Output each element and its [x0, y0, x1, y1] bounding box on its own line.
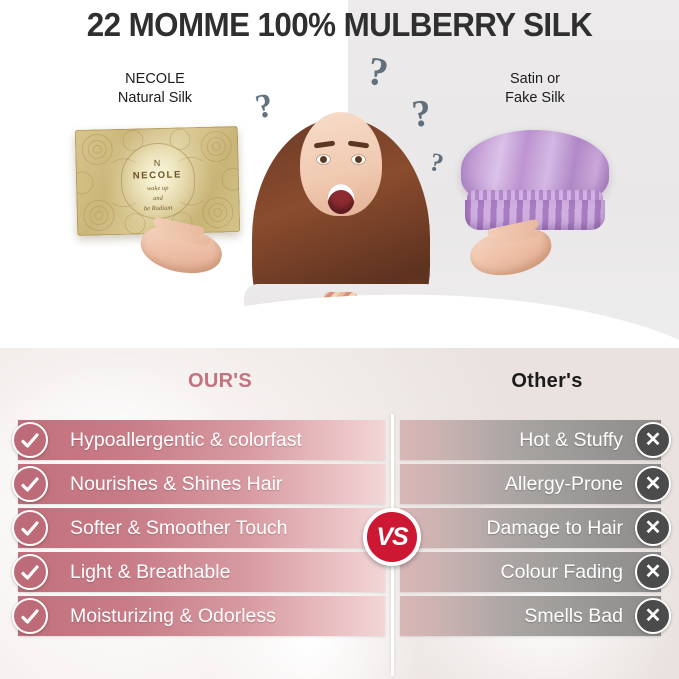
- column-header-others: Other's: [452, 370, 642, 393]
- comparison-row: Hypoallergentic & colorfastHot & Stuffy✕: [0, 420, 679, 460]
- x-badge: ✕: [635, 598, 671, 634]
- ours-feature-label: Moisturizing & Odorless: [70, 596, 276, 636]
- product-label-left-line2: Natural Silk: [70, 89, 240, 108]
- check-badge: [12, 510, 48, 546]
- column-header-ours: OUR'S: [120, 370, 320, 393]
- product-label-right: Satin or Fake Silk: [455, 70, 615, 107]
- ours-feature-label: Nourishes & Shines Hair: [70, 464, 282, 504]
- others-feature-label: Colour Fading: [501, 552, 623, 592]
- check-badge: [12, 554, 48, 590]
- model-mouth: [328, 184, 355, 214]
- check-icon: [20, 563, 40, 583]
- comparison-row: Softer & Smoother TouchDamage to Hair✕: [0, 508, 679, 548]
- others-feature-label: Hot & Stuffy: [519, 420, 623, 460]
- comparison-row: Moisturizing & OdorlessSmells Bad✕: [0, 596, 679, 636]
- product-label-left: NECOLE Natural Silk: [70, 70, 240, 107]
- check-icon: [20, 519, 40, 539]
- check-badge: [12, 466, 48, 502]
- ours-feature-label: Hypoallergentic & colorfast: [70, 420, 302, 460]
- model-face: [300, 112, 382, 216]
- check-icon: [20, 431, 40, 451]
- comparison-row: Nourishes & Shines HairAllergy-Prone✕: [0, 464, 679, 504]
- vs-badge: VS: [363, 508, 421, 566]
- ours-feature-label: Softer & Smoother Touch: [70, 508, 288, 548]
- comparison-section: OUR'S Other's Hypoallergentic & colorfas…: [0, 348, 679, 679]
- x-badge: ✕: [635, 422, 671, 458]
- others-feature-label: Damage to Hair: [486, 508, 623, 548]
- x-badge: ✕: [635, 510, 671, 546]
- ours-feature-label: Light & Breathable: [70, 552, 230, 592]
- check-badge: [12, 422, 48, 458]
- check-icon: [20, 607, 40, 627]
- page-title: 22 MOMME 100% MULBERRY SILK: [17, 6, 662, 44]
- product-label-left-line1: NECOLE: [70, 70, 240, 89]
- satin-bonnet-image: [455, 130, 615, 234]
- others-feature-label: Smells Bad: [524, 596, 623, 636]
- others-feature-label: Allergy-Prone: [505, 464, 623, 504]
- infographic-root: 22 MOMME 100% MULBERRY SILK NECOLE Natur…: [0, 0, 679, 679]
- product-label-right-line2: Fake Silk: [455, 89, 615, 108]
- comparison-rows: Hypoallergentic & colorfastHot & Stuffy✕…: [0, 420, 679, 640]
- check-badge: [12, 598, 48, 634]
- x-badge: ✕: [635, 554, 671, 590]
- product-label-right-line1: Satin or: [455, 70, 615, 89]
- hero-section: 22 MOMME 100% MULBERRY SILK NECOLE Natur…: [0, 0, 679, 372]
- check-icon: [20, 475, 40, 495]
- comparison-row: Light & BreathableColour Fading✕: [0, 552, 679, 592]
- x-badge: ✕: [635, 466, 671, 502]
- necole-tagline: wake up and be Radiant: [76, 182, 240, 215]
